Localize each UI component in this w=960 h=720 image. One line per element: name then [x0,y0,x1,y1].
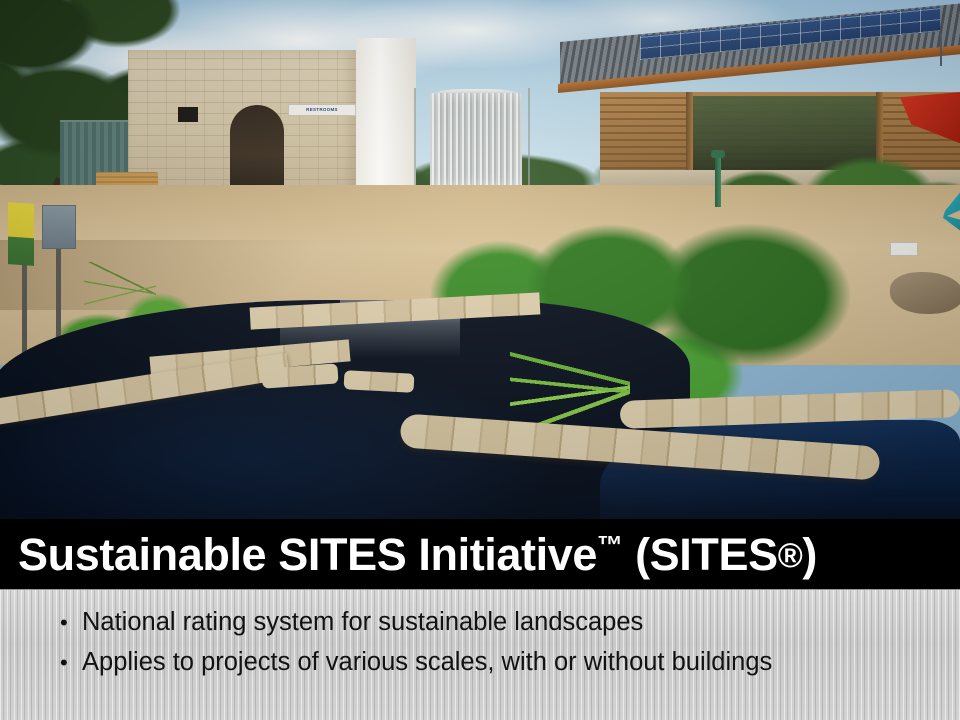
slide-photo: RESTROOMS [0,0,960,521]
bullet-icon: • [60,612,82,634]
body-panel: • National rating system for sustainable… [0,589,960,720]
plant-label-plaque [890,242,918,256]
white-wall [356,38,416,206]
slide-title-paren-open: (SITES [623,529,778,580]
restrooms-sign: RESTROOMS [288,104,356,116]
antenna-mast [940,36,942,66]
flagstone-stepping-stone [344,370,415,393]
boulder [890,272,960,314]
title-bar: Sustainable SITES Initiative™ (SITES®) [0,519,960,589]
list-item: • Applies to projects of various scales,… [0,644,830,680]
slide-title-main: Sustainable SITES Initiative [18,529,597,580]
bullet-list: • National rating system for sustainable… [0,604,830,684]
slide-title: Sustainable SITES Initiative™ (SITES®) [0,532,817,577]
bollard-head [711,150,725,158]
trademark-symbol: ™ [597,530,623,560]
interpretive-sign-gray [42,205,76,249]
list-item: • National rating system for sustainable… [0,604,830,640]
bullet-icon: • [60,652,82,674]
galvanized-water-tank [430,93,522,188]
tank-support-frame [414,88,416,188]
bullet-text: National rating system for sustainable l… [82,604,643,640]
registered-symbol: ® [778,537,803,575]
slide: RESTROOMS [0,0,960,720]
pavilion-post [686,92,693,178]
interpretive-sign-yellow [8,202,34,266]
ornamental-grass-tuft [84,262,156,322]
bullet-text: Applies to projects of various scales, w… [82,644,772,680]
slide-title-paren-close: ) [802,529,817,580]
building-window [178,107,198,122]
tank-support-frame [528,88,530,188]
